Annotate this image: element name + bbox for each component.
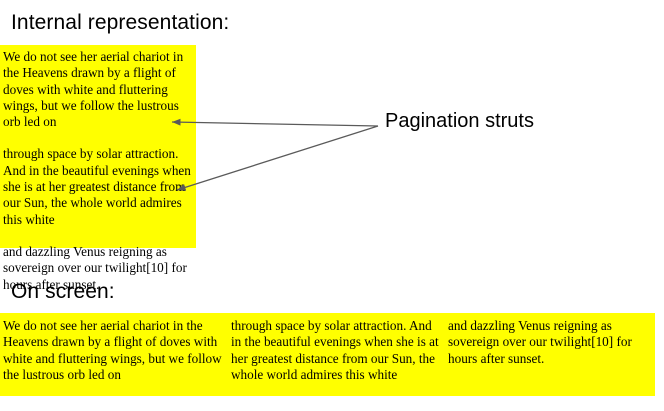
on-screen-column-1-text: We do not see her aerial chariot in the … [3,318,222,383]
strut-arrow-lower [177,126,378,190]
on-screen-column-2: through space by solar attraction. And i… [230,318,448,396]
internal-representation-block: We do not see her aerial chariot in the … [0,45,196,248]
page-title-on-screen: On screen: [11,281,115,302]
internal-paragraph-1: We do not see her aerial chariot in the … [3,49,192,130]
on-screen-column-1: We do not see her aerial chariot in the … [0,318,230,396]
on-screen-column-3-text: and dazzling Venus reigning as sovereign… [448,318,649,367]
on-screen-column-2-text: through space by solar attraction. And i… [231,318,440,383]
on-screen-block: We do not see her aerial chariot in the … [0,313,655,396]
strut-arrow-upper [172,122,378,126]
pagination-struts-label: Pagination struts [385,111,534,131]
page-title-internal-representation: Internal representation: [11,12,229,33]
internal-paragraph-2: through space by solar attraction. And i… [3,146,192,227]
slide-canvas: Internal representation: We do not see h… [0,0,664,411]
on-screen-column-3: and dazzling Venus reigning as sovereign… [448,318,655,396]
